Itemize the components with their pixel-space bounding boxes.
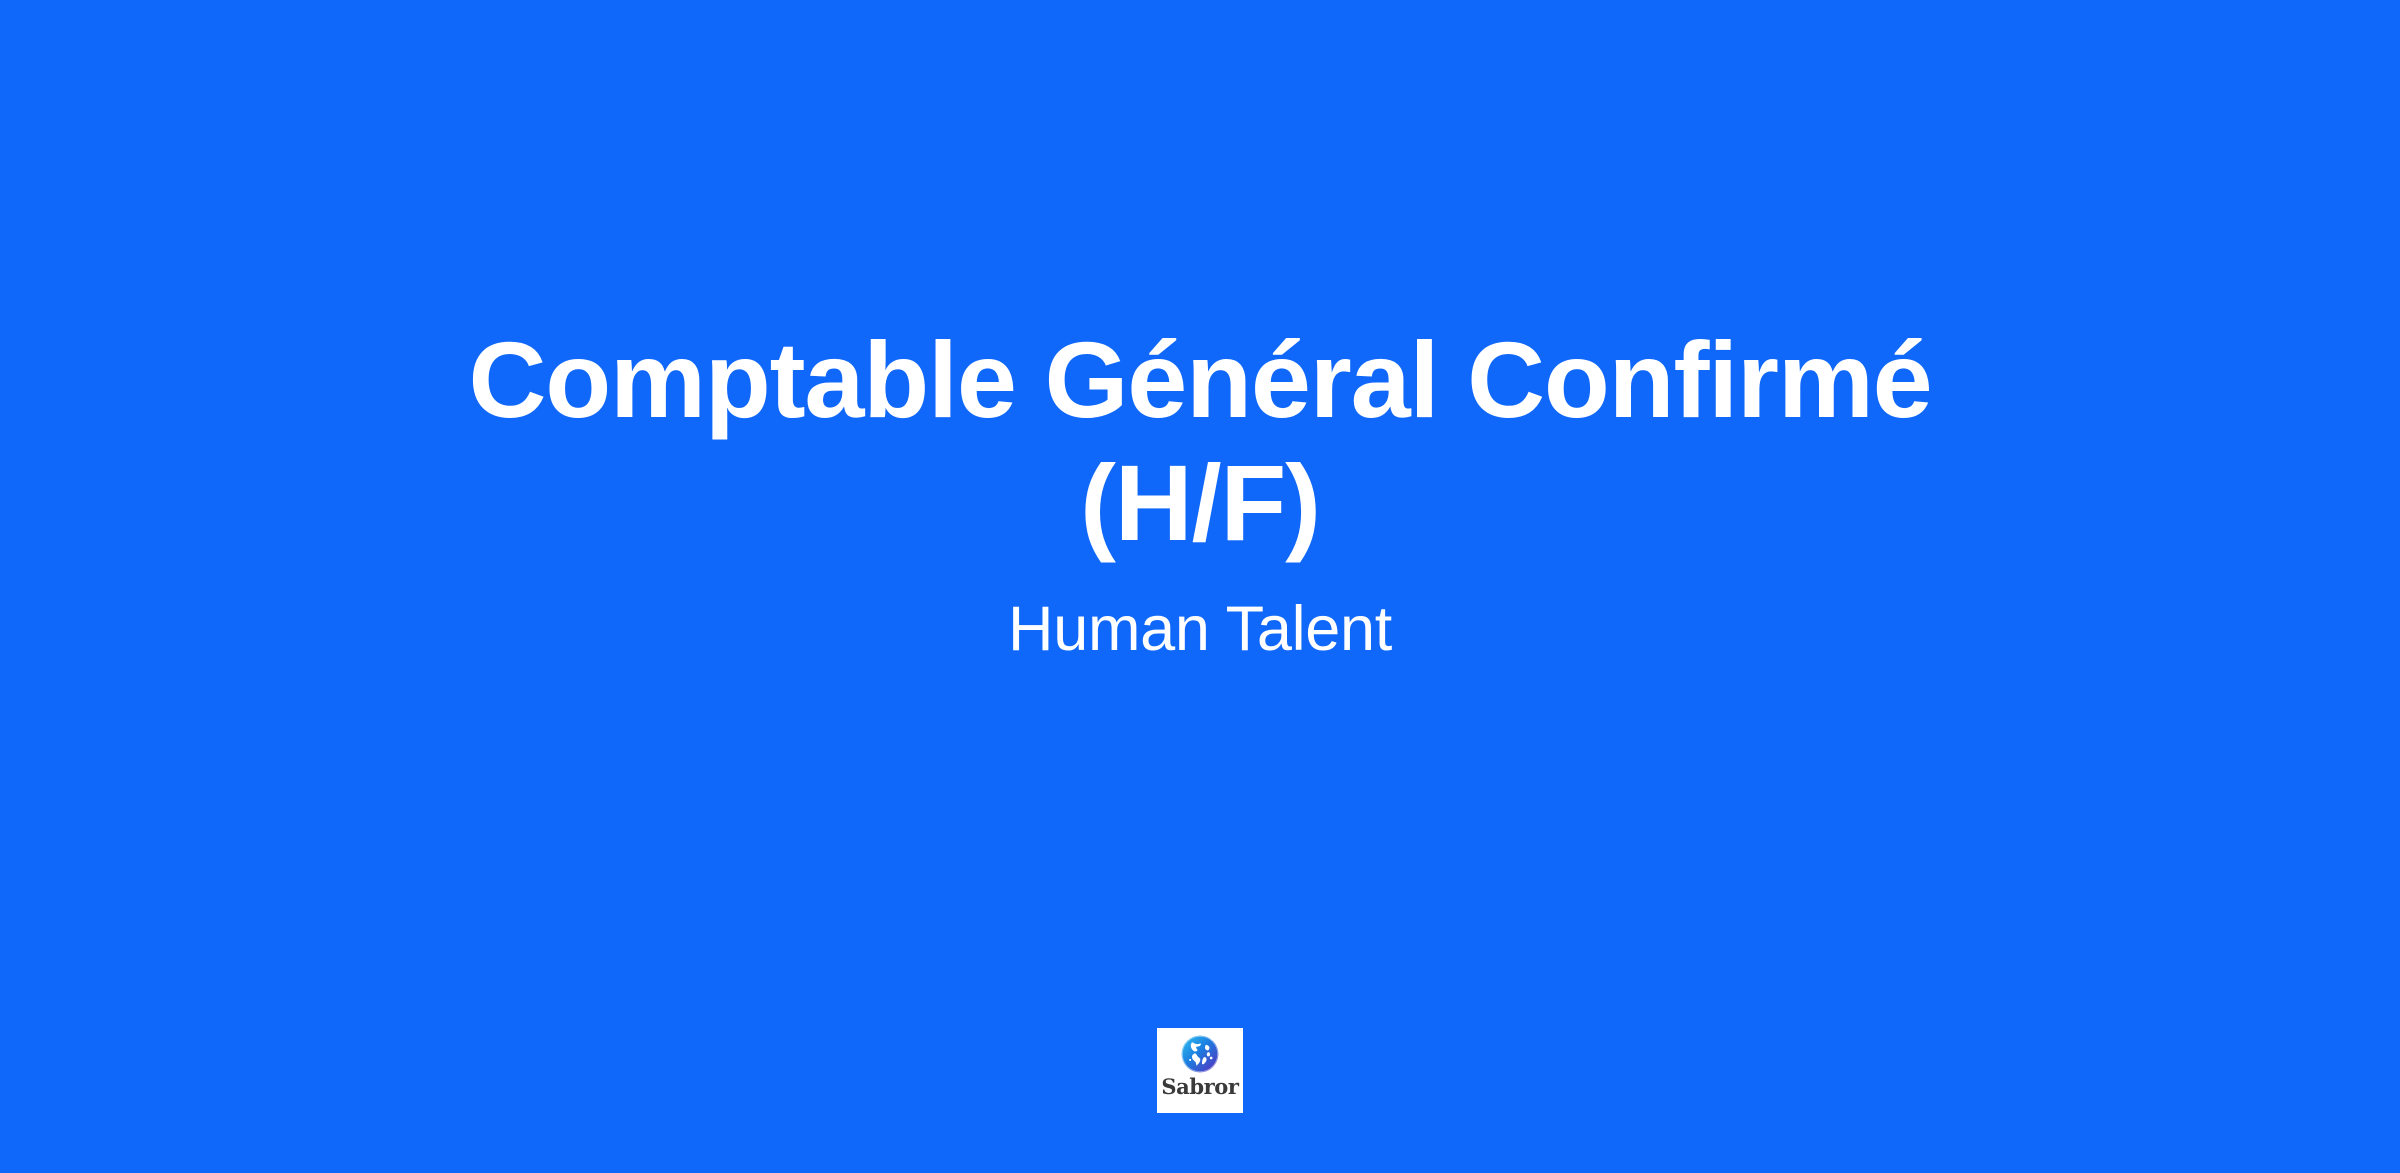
company-logo: Sabror <box>1157 1028 1243 1113</box>
hero-text-block: Comptable Général Confirmé (H/F) Human T… <box>0 318 2400 668</box>
company-name: Human Talent <box>390 592 2010 668</box>
job-posting-hero: Comptable Général Confirmé (H/F) Human T… <box>0 0 2400 1173</box>
globe-icon <box>1179 1033 1221 1075</box>
logo-wordmark: Sabror <box>1161 1076 1238 1097</box>
page-title: Comptable Général Confirmé (H/F) <box>390 318 2010 564</box>
